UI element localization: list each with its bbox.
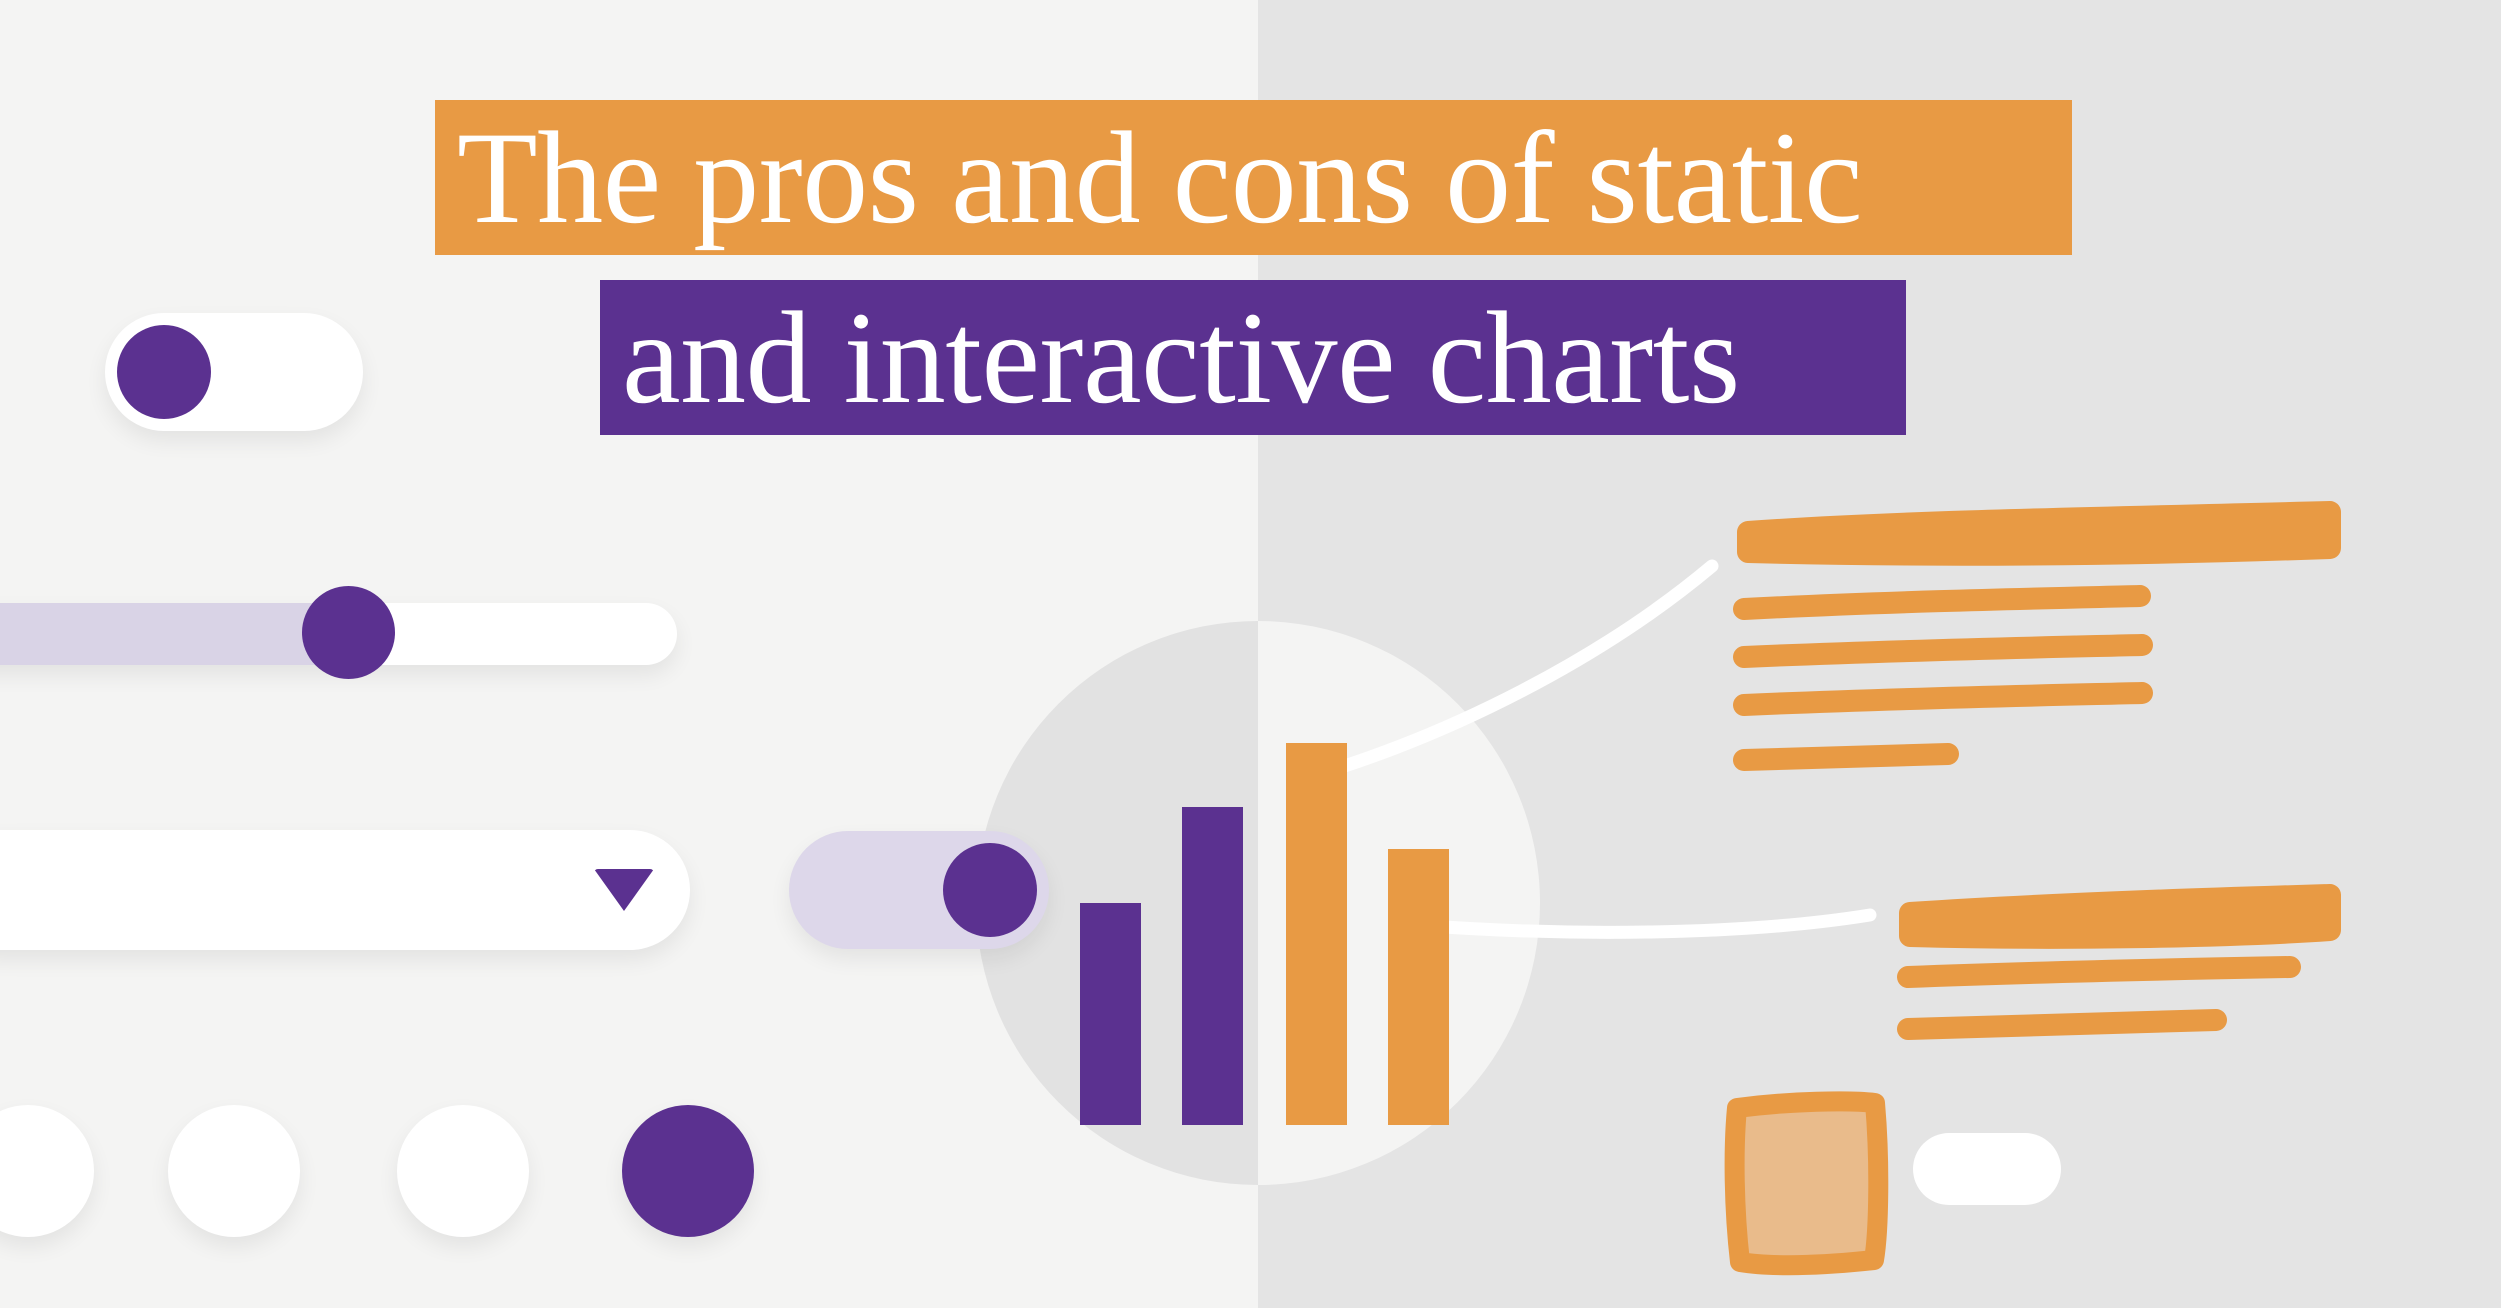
- toggle-switch[interactable]: [105, 313, 363, 431]
- chart-bar[interactable]: [1182, 807, 1243, 1125]
- sketch-line-group-top: [1744, 512, 2330, 760]
- illustration-canvas: The pros and cons of static and interact…: [0, 0, 2501, 1308]
- chart-bar[interactable]: [1286, 743, 1347, 1125]
- chevron-down-icon[interactable]: [594, 869, 654, 911]
- page-title-line-2: and interactive charts: [622, 292, 1740, 424]
- toggle-switch-secondary[interactable]: [789, 831, 1049, 949]
- headline-bar: [1748, 512, 2330, 555]
- text-line: [1908, 1020, 2216, 1029]
- title-banner-line-1: The pros and cons of static: [435, 100, 2072, 255]
- headline-bar: [1910, 895, 2330, 938]
- sketch-line-group-bottom: [1908, 895, 2330, 1029]
- radio-option-selected[interactable]: [622, 1105, 754, 1237]
- chart-bar[interactable]: [1080, 903, 1141, 1125]
- text-line: [1908, 967, 2290, 977]
- radio-option[interactable]: [168, 1105, 300, 1237]
- range-slider-handle[interactable]: [302, 586, 395, 679]
- text-line: [1744, 693, 2142, 705]
- text-line-short: [1744, 754, 1948, 760]
- sketch-square: [1735, 1101, 1879, 1265]
- sketch-pill: [1913, 1133, 2061, 1205]
- toggle-knob[interactable]: [943, 843, 1037, 937]
- dropdown-select[interactable]: [0, 830, 690, 950]
- text-line: [1744, 596, 2140, 609]
- title-banner-line-2: and interactive charts: [600, 280, 1906, 435]
- text-line: [1744, 645, 2142, 657]
- radio-option[interactable]: [397, 1105, 529, 1237]
- page-title-line-1: The pros and cons of static: [457, 112, 1862, 244]
- toggle-knob[interactable]: [117, 325, 211, 419]
- chart-bar[interactable]: [1388, 849, 1449, 1125]
